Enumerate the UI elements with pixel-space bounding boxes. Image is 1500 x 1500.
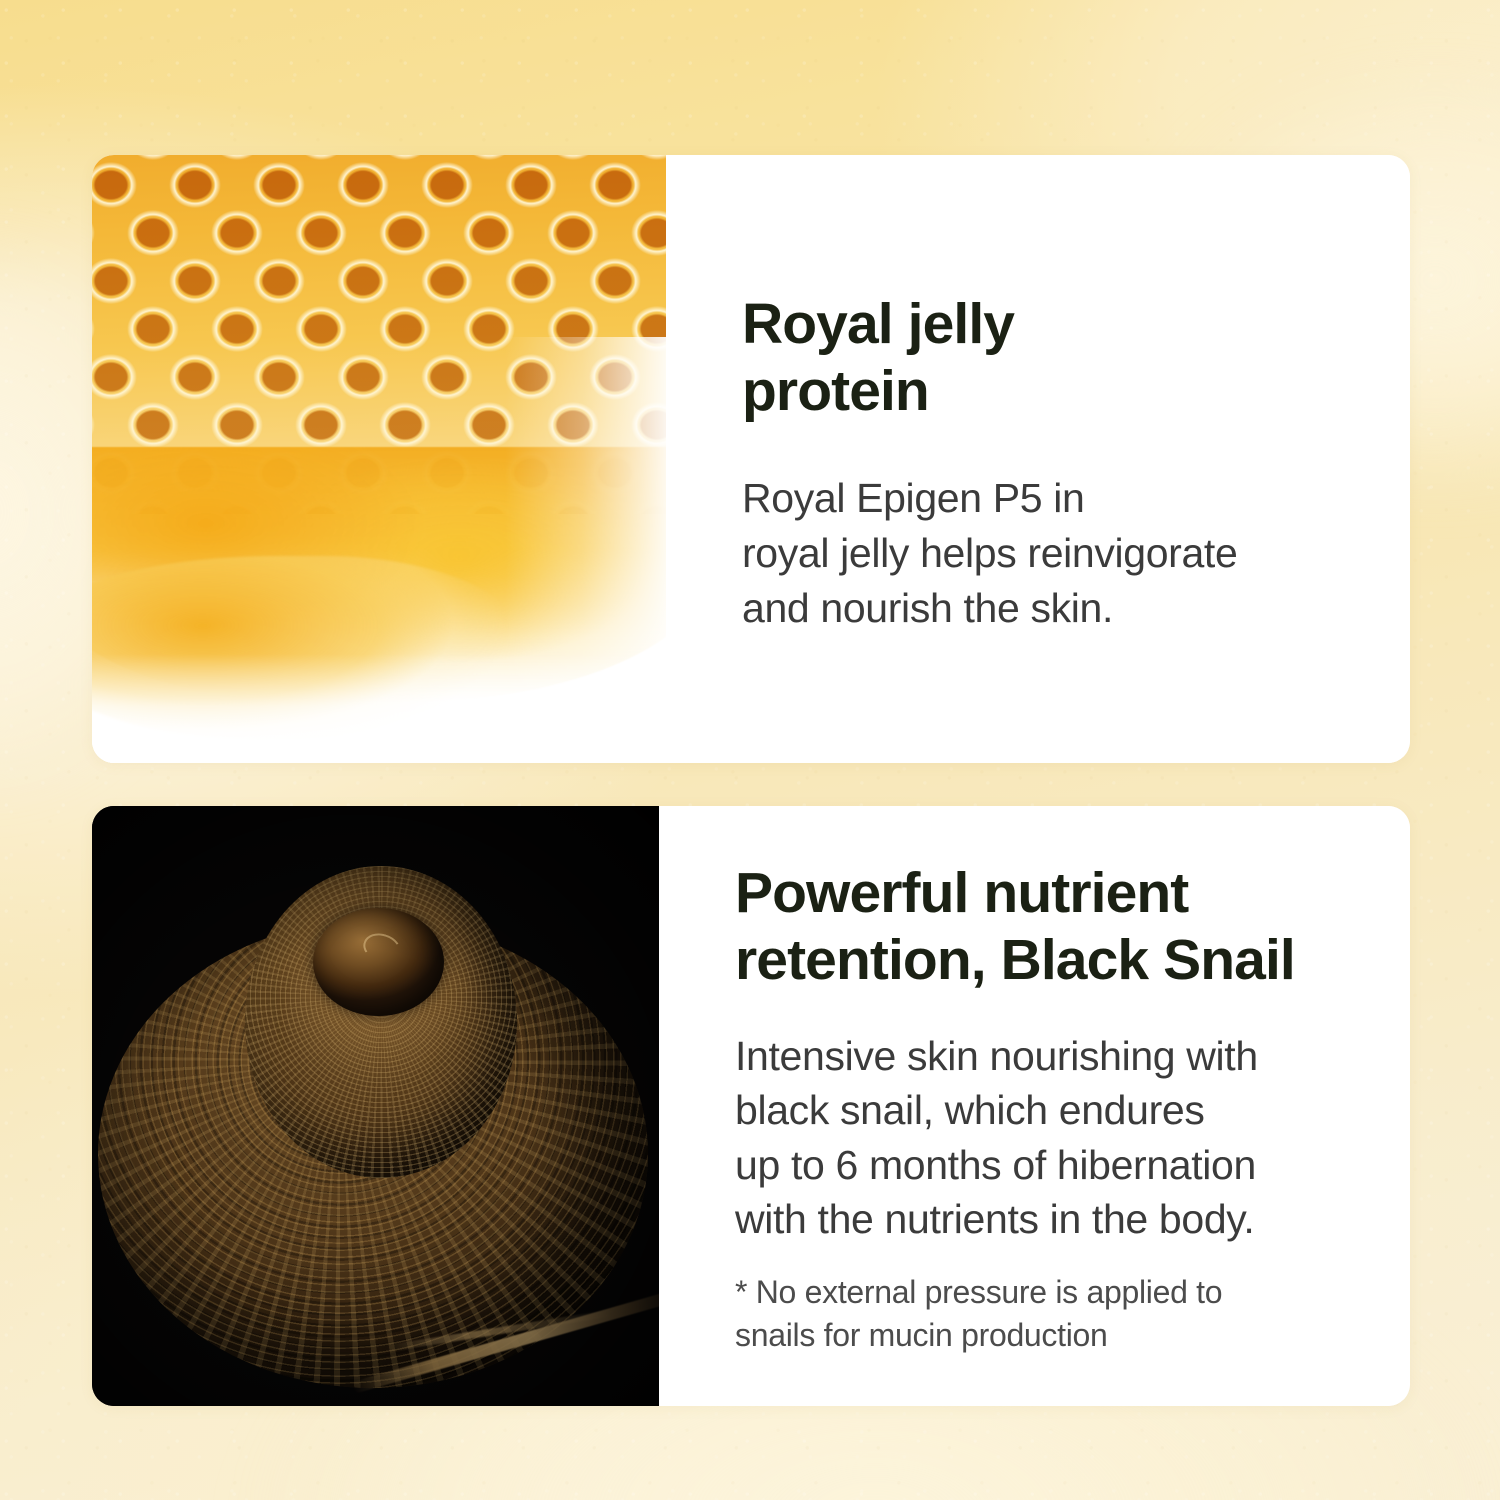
feature-card-royal-jelly: Royal jelly protein Royal Epigen P5 in r… (92, 155, 1410, 763)
page-root: Royal jelly protein Royal Epigen P5 in r… (0, 0, 1500, 1500)
black-snail-description: Intensive skin nourishing with black sna… (735, 1029, 1370, 1247)
royal-jelly-heading: Royal jelly protein (742, 291, 1370, 426)
royal-jelly-description: Royal Epigen P5 in royal jelly helps rei… (742, 471, 1370, 635)
feature-card-black-snail: Powerful nutrient retention, Black Snail… (92, 806, 1410, 1406)
black-snail-text-block: Powerful nutrient retention, Black Snail… (659, 806, 1410, 1406)
royal-jelly-text-block: Royal jelly protein Royal Epigen P5 in r… (666, 155, 1410, 763)
honey-fade-bottom (92, 654, 666, 763)
snail-vignette (92, 806, 659, 1406)
honeycomb-illustration (92, 155, 666, 763)
royal-jelly-image (92, 155, 666, 763)
snail-illustration (92, 806, 659, 1406)
black-snail-footnote: * No external pressure is applied to sna… (735, 1271, 1370, 1358)
black-snail-heading: Powerful nutrient retention, Black Snail (735, 860, 1370, 995)
black-snail-image (92, 806, 659, 1406)
